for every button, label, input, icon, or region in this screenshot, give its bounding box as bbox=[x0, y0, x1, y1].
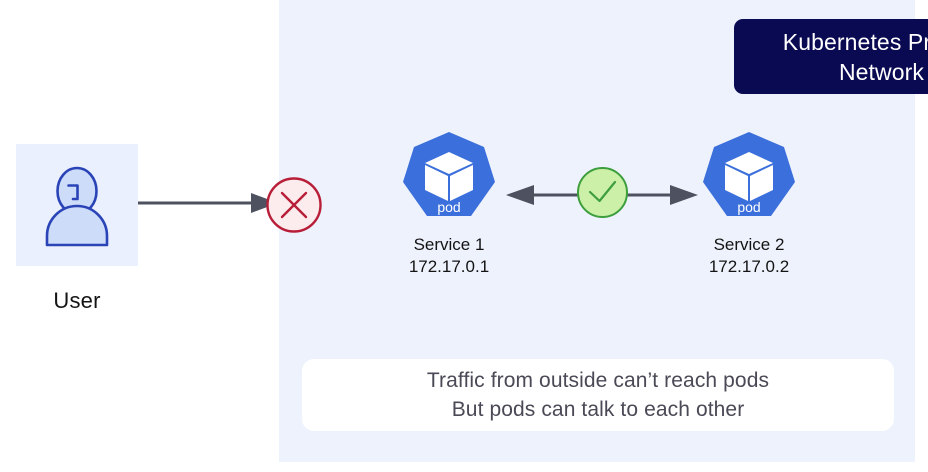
service-name-1: Service 1 bbox=[399, 234, 499, 256]
caption-line-1: Traffic from outside can’t reach pods bbox=[427, 366, 769, 395]
pod-hexagon-icon: pod bbox=[699, 130, 799, 225]
network-title-text: Kubernetes Private Network bbox=[783, 27, 928, 87]
pod-node-service-1[interactable]: pod Service 1 172.17.0.1 bbox=[399, 130, 499, 278]
service-ip-2: 172.17.0.2 bbox=[699, 256, 799, 278]
caption-line-2: But pods can talk to each other bbox=[452, 395, 745, 424]
arrow-right-icon bbox=[138, 186, 283, 220]
check-icon bbox=[576, 166, 629, 219]
pod-caption-2: Service 2 172.17.0.2 bbox=[699, 234, 799, 278]
blocked-traffic-arrow bbox=[138, 186, 283, 220]
kubernetes-pod-icon: pod bbox=[399, 130, 499, 225]
caption-card: Traffic from outside can’t reach pods Bu… bbox=[302, 359, 894, 431]
pod-hexagon-icon: pod bbox=[399, 130, 499, 225]
user-label: User bbox=[16, 288, 138, 314]
pod-node-service-2[interactable]: pod Service 2 172.17.0.2 bbox=[699, 130, 799, 278]
user-person-icon bbox=[16, 144, 138, 266]
blocked-marker bbox=[265, 176, 323, 234]
user-group: User bbox=[16, 144, 138, 314]
pod-icon-label: pod bbox=[737, 199, 760, 215]
kubernetes-pod-icon: pod bbox=[699, 130, 799, 225]
service-ip-1: 172.17.0.1 bbox=[399, 256, 499, 278]
user-avatar-box bbox=[16, 144, 138, 266]
network-title-line-2: Network bbox=[783, 57, 928, 87]
network-title-banner: Kubernetes Private Network bbox=[734, 19, 928, 94]
service-name-2: Service 2 bbox=[699, 234, 799, 256]
pod-icon-label: pod bbox=[437, 199, 460, 215]
diagram-canvas: Kubernetes Private Network User bbox=[0, 0, 928, 472]
pod-caption-1: Service 1 172.17.0.1 bbox=[399, 234, 499, 278]
allowed-marker bbox=[576, 166, 629, 219]
x-cross-icon bbox=[265, 176, 323, 234]
network-title-line-1: Kubernetes Private bbox=[783, 27, 928, 57]
